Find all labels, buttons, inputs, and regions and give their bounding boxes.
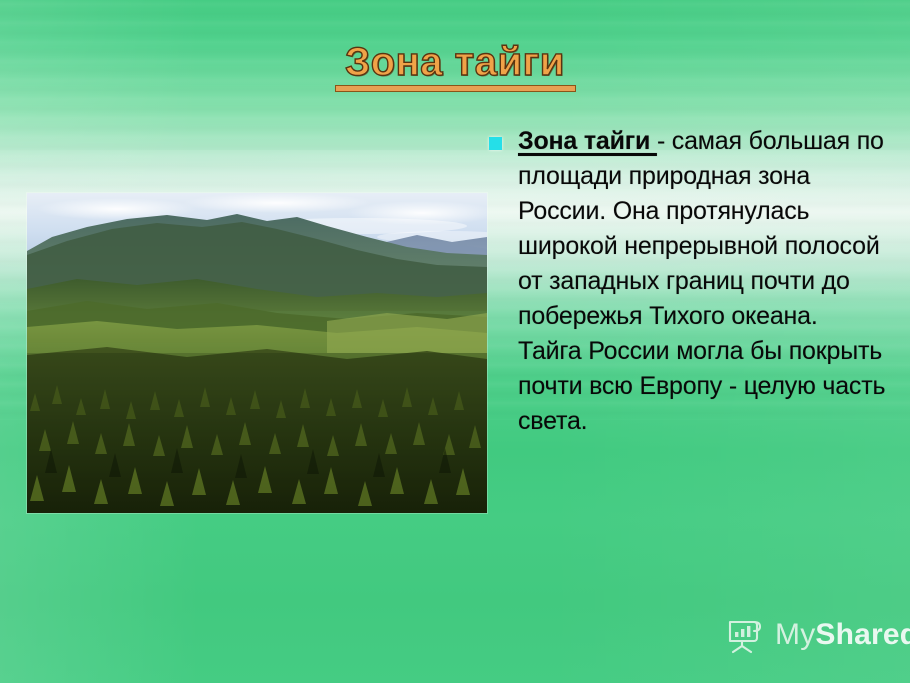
taiga-photo xyxy=(27,193,487,513)
watermark-text-light: My xyxy=(775,618,815,651)
slide-title-container: Зона тайги xyxy=(0,41,910,92)
watermark-text-bold: Shared xyxy=(815,618,910,651)
body-text-block: Зона тайги - самая большая по площади пр… xyxy=(487,124,887,439)
presentation-chart-icon xyxy=(724,615,766,655)
taiga-photo-graphic xyxy=(27,193,487,513)
body-rest: - самая большая по площади природная зон… xyxy=(518,127,885,435)
page-title: Зона тайги xyxy=(341,41,569,83)
body-paragraph: Зона тайги - самая большая по площади пр… xyxy=(487,124,887,439)
title-underline xyxy=(335,85,576,92)
myshared-watermark: MyShared xyxy=(724,615,910,655)
watermark-text: MyShared xyxy=(775,618,910,652)
bullet-square-icon xyxy=(489,137,502,150)
lead-phrase: Зона тайги xyxy=(518,127,657,155)
presentation-slide: Зона тайги xyxy=(0,0,910,683)
